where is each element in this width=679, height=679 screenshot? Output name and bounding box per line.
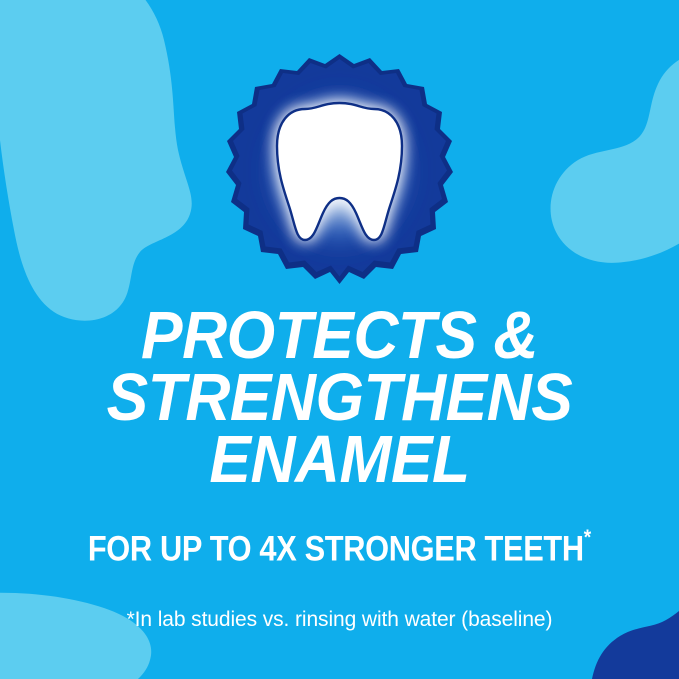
headline-line-3: ENAMEL bbox=[24, 429, 655, 491]
headline-line-2: STRENGTHENS bbox=[24, 367, 655, 429]
tooth-badge-svg bbox=[213, 52, 466, 296]
subhead-text: FOR UP TO 4X STRONGER TEETH bbox=[88, 529, 584, 568]
tooth-badge bbox=[213, 52, 466, 296]
headline: PROTECTS & STRENGTHENS ENAMEL bbox=[24, 305, 655, 491]
headline-line-1: PROTECTS & bbox=[24, 305, 655, 367]
enamel-protection-poster: PROTECTS & STRENGTHENS ENAMEL FOR UP TO … bbox=[0, 0, 679, 679]
subhead-asterisk: * bbox=[584, 524, 591, 549]
blob-bottom-left-shape bbox=[0, 593, 151, 679]
blob-top-left-shape bbox=[0, 0, 192, 321]
blob-right-shape bbox=[551, 50, 679, 262]
footnote: *In lab studies vs. rinsing with water (… bbox=[0, 608, 679, 632]
subhead: FOR UP TO 4X STRONGER TEETH* bbox=[41, 524, 639, 569]
